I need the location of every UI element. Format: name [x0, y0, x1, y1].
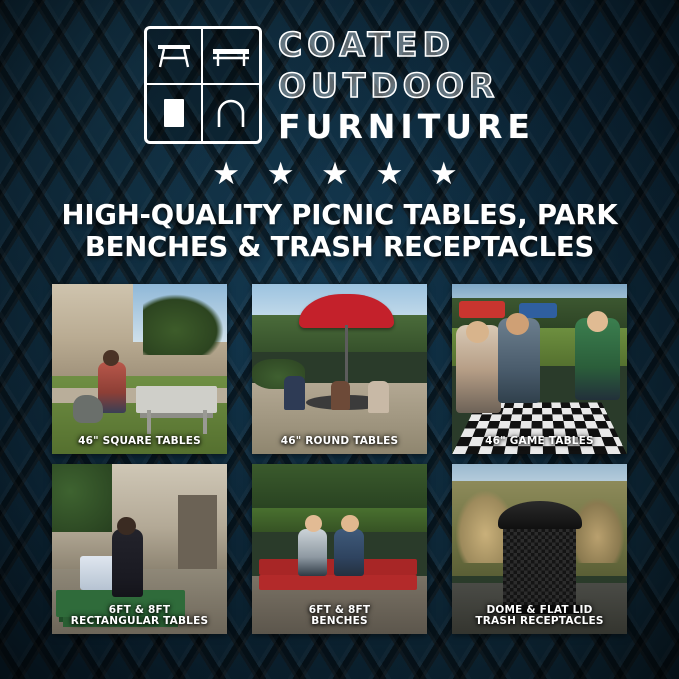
headline-line-1: HIGH-QUALITY PICNIC TABLES, PARK — [26, 200, 653, 232]
product-caption: DOME & FLAT LID TRASH RECEPTACLES — [452, 601, 627, 635]
brand-logo: COATED OUTDOOR FURNITURE — [0, 24, 679, 147]
caption-line-1: 46" ROUND TABLES — [255, 436, 424, 448]
park-bench-icon — [203, 29, 259, 85]
caption-line-1: 46" SQUARE TABLES — [55, 436, 224, 448]
picnic-table-icon — [147, 29, 203, 85]
product-caption: 46" GAME TABLES — [452, 432, 627, 454]
caption-line-1: 46" GAME TABLES — [455, 436, 624, 448]
caption-line-2: BENCHES — [255, 616, 424, 628]
product-caption: 6FT & 8FT RECTANGULAR TABLES — [52, 601, 227, 635]
brand-line-2: OUTDOOR — [278, 67, 535, 106]
logo-mark — [144, 26, 262, 144]
product-card-round-tables[interactable]: 46" ROUND TABLES — [252, 284, 427, 454]
square-tables-photo — [52, 284, 227, 454]
brand-line-1: COATED — [278, 26, 535, 65]
product-card-game-tables[interactable]: 46" GAME TABLES — [452, 284, 627, 454]
product-grid: 46" SQUARE TABLES 46" ROUND TABLES — [52, 284, 627, 634]
archway-icon — [203, 85, 259, 141]
product-poster: COATED OUTDOOR FURNITURE ★ ★ ★ ★ ★ HIGH-… — [0, 0, 679, 679]
product-card-trash-receptacles[interactable]: DOME & FLAT LID TRASH RECEPTACLES — [452, 464, 627, 634]
round-tables-photo — [252, 284, 427, 454]
product-caption: 6FT & 8FT BENCHES — [252, 601, 427, 635]
caption-line-2: RECTANGULAR TABLES — [55, 616, 224, 628]
star-rating: ★ ★ ★ ★ ★ — [0, 158, 679, 189]
game-tables-photo — [452, 284, 627, 454]
headline: HIGH-QUALITY PICNIC TABLES, PARK BENCHES… — [0, 200, 679, 264]
headline-line-2: BENCHES & TRASH RECEPTACLES — [26, 232, 653, 264]
caption-line-2: TRASH RECEPTACLES — [455, 616, 624, 628]
product-caption: 46" ROUND TABLES — [252, 432, 427, 454]
product-caption: 46" SQUARE TABLES — [52, 432, 227, 454]
product-card-rectangular-tables[interactable]: 6FT & 8FT RECTANGULAR TABLES — [52, 464, 227, 634]
brand-line-3: FURNITURE — [278, 108, 535, 147]
trash-receptacle-icon — [147, 85, 203, 141]
product-card-square-tables[interactable]: 46" SQUARE TABLES — [52, 284, 227, 454]
brand-wordmark: COATED OUTDOOR FURNITURE — [278, 24, 535, 147]
product-card-benches[interactable]: 6FT & 8FT BENCHES — [252, 464, 427, 634]
